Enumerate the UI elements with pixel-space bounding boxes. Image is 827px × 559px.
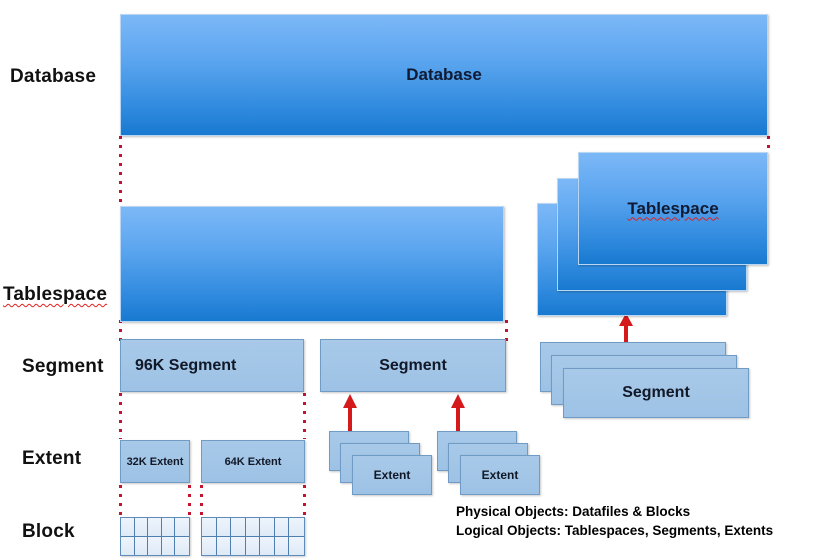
block-cell xyxy=(260,518,275,537)
block-cell xyxy=(231,518,246,537)
block-cell xyxy=(246,518,261,537)
block-cell xyxy=(175,518,189,537)
guide-line-64k-left-ext-to-blk xyxy=(200,485,203,517)
tablespace-left-box[interactable] xyxy=(120,206,504,322)
extent-stack-1-front[interactable]: Extent xyxy=(352,455,432,495)
tablespace-stack-front[interactable]: Tablespace xyxy=(578,152,768,265)
arrow-extent-stack-1-to-segment xyxy=(342,394,358,436)
row-label-block-text: Block xyxy=(22,521,75,542)
extent-stack-2-label: Extent xyxy=(482,468,519,482)
block-cell xyxy=(289,518,304,537)
row-label-database: Database xyxy=(10,66,96,88)
extent-32k-label: 32K Extent xyxy=(127,456,184,468)
block-cell xyxy=(217,518,232,537)
legend-line-2: Logical Objects: Tablespaces, Segments, … xyxy=(456,523,773,538)
database-box[interactable]: Database xyxy=(120,14,768,136)
extent-64k-label: 64K Extent xyxy=(225,456,282,468)
diagram-canvas: Database Tablespace Segment Extent Block… xyxy=(0,0,827,559)
block-grid-32k[interactable] xyxy=(120,517,190,556)
row-label-tablespace: Tablespace xyxy=(3,284,107,306)
row-label-tablespace-text: Tablespace xyxy=(3,284,107,305)
block-cell xyxy=(260,537,275,556)
segment-96k-label: 96K Segment xyxy=(135,357,236,375)
row-label-segment-text: Segment xyxy=(22,356,104,377)
segment-96k-box[interactable]: 96K Segment xyxy=(120,339,304,392)
arrow-extent-stack-2-to-segment xyxy=(450,394,466,436)
guide-line-32k-right-ext-to-blk xyxy=(188,485,191,517)
legend-logical-objects: Logical Objects: Tablespaces, Segments, … xyxy=(456,521,773,540)
segment-stack-label: Segment xyxy=(622,384,690,402)
block-cell xyxy=(275,537,290,556)
legend-line-1: Physical Objects: Datafiles & Blocks xyxy=(456,504,690,519)
guide-line-left-ext-to-blk xyxy=(119,485,122,517)
block-cell xyxy=(175,537,189,556)
extent-64k-box[interactable]: 64K Extent xyxy=(201,440,305,483)
guide-line-left-db-to-ts xyxy=(119,136,122,206)
extent-stack-2-front[interactable]: Extent xyxy=(460,455,540,495)
segment-mid-label: Segment xyxy=(379,357,447,375)
segment-stack-front[interactable]: Segment xyxy=(563,368,749,418)
block-cell xyxy=(289,537,304,556)
block-cell xyxy=(135,537,149,556)
block-cell xyxy=(121,537,135,556)
block-cell xyxy=(148,518,162,537)
block-grid-64k[interactable] xyxy=(201,517,305,556)
row-label-extent-text: Extent xyxy=(22,448,81,469)
block-cell xyxy=(135,518,149,537)
extent-stack-1-label: Extent xyxy=(374,468,411,482)
guide-line-left-seg-to-ext xyxy=(119,393,122,439)
block-cell xyxy=(275,518,290,537)
row-label-extent: Extent xyxy=(22,448,81,470)
block-cell xyxy=(217,537,232,556)
database-box-label: Database xyxy=(406,65,482,85)
block-cell xyxy=(148,537,162,556)
segment-mid-box[interactable]: Segment xyxy=(320,339,506,392)
guide-line-seg96k-right-to-ext xyxy=(303,393,306,439)
block-cell xyxy=(202,518,217,537)
guide-line-right-db-to-ts xyxy=(767,136,770,152)
block-cell xyxy=(246,537,261,556)
block-cell xyxy=(162,537,176,556)
block-cell xyxy=(231,537,246,556)
guide-line-64k-right-ext-to-blk xyxy=(303,485,306,517)
extent-32k-box[interactable]: 32K Extent xyxy=(120,440,190,483)
row-label-block: Block xyxy=(22,521,75,543)
block-cell xyxy=(162,518,176,537)
row-label-database-text: Database xyxy=(10,66,96,87)
tablespace-stack-label: Tablespace xyxy=(627,199,718,219)
legend-physical-objects: Physical Objects: Datafiles & Blocks xyxy=(456,502,690,521)
row-label-segment: Segment xyxy=(22,356,104,378)
block-cell xyxy=(121,518,135,537)
block-cell xyxy=(202,537,217,556)
